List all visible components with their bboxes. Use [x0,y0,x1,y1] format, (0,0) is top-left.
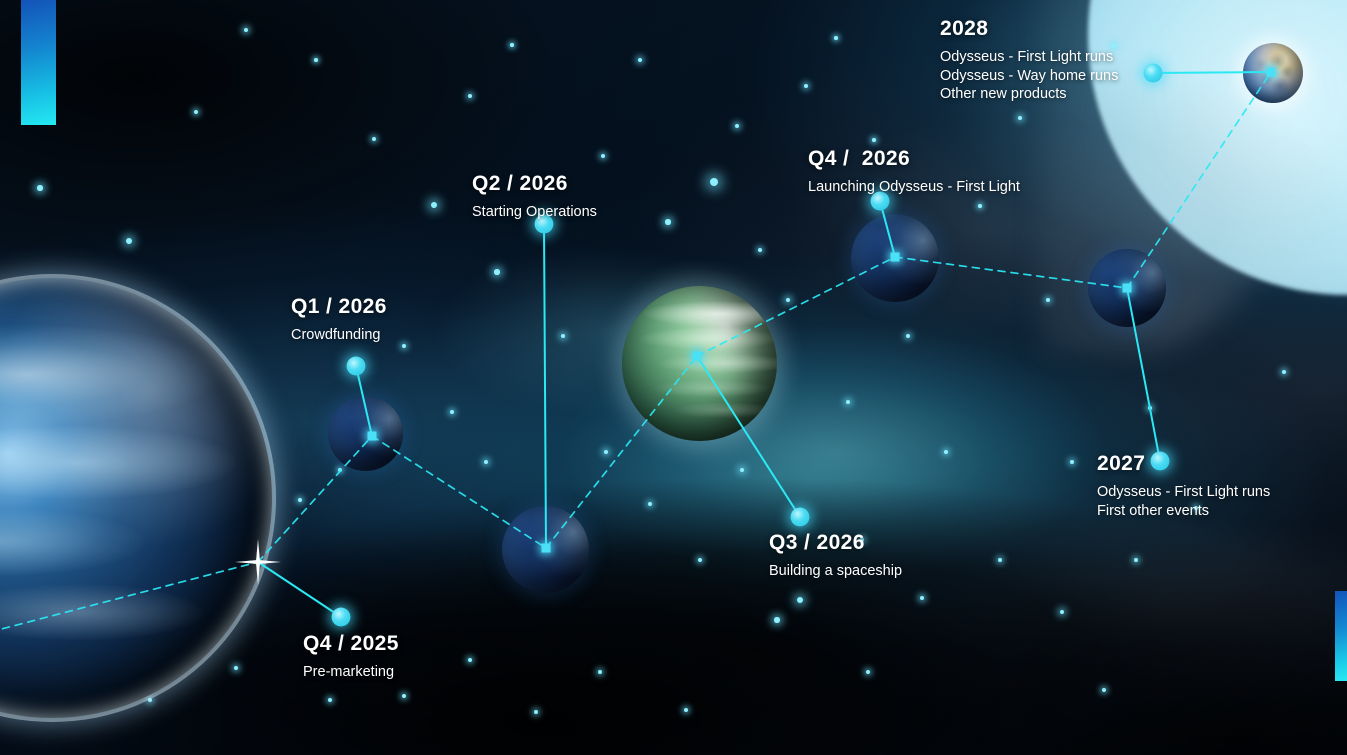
milestone-title: Q2 / 2026 [472,172,597,196]
link-moon-to-y2028 [1153,72,1271,73]
milestone-label-q1-2026[interactable]: Q1 / 2026Crowdfunding [291,295,387,345]
link-green-to-q3-2026 [697,356,800,517]
link-green-to-navy3 [697,257,895,356]
link-offscreen-to-star [0,562,258,632]
milestone-label-y2028[interactable]: 2028Odysseus - First Light runsOdysseus … [940,17,1118,104]
link-navy2-to-q2-2026 [544,224,546,548]
milestone-description: Launching Odysseus - First Light [808,178,1020,197]
milestone-description: Crowdfunding [291,326,387,345]
milestone-label-q2-2026[interactable]: Q2 / 2026Starting Operations [472,172,597,222]
milestone-description-line: Odysseus - First Light runs [1097,483,1270,502]
milestone-description-line: Building a spaceship [769,562,902,581]
milestone-label-q3-2026[interactable]: Q3 / 2026Building a spaceship [769,531,902,581]
milestone-dot-q4-2025[interactable] [332,608,351,627]
link-star-to-q4-2025 [258,562,341,617]
hub-navy-1 [368,432,377,441]
milestone-title: Q1 / 2026 [291,295,387,319]
milestone-title: 2027 [1097,452,1270,476]
milestone-description: Pre-marketing [303,663,399,682]
milestone-title: Q4 / 2025 [303,632,399,656]
hub-navy-3 [891,253,900,262]
milestone-description-line: Launching Odysseus - First Light [808,178,1020,197]
milestone-description-line: First other events [1097,502,1270,521]
milestone-description-line: Crowdfunding [291,326,387,345]
milestone-dot-q3-2026[interactable] [791,508,810,527]
milestone-description-line: Odysseus - First Light runs [940,48,1118,67]
link-navy2-to-green [546,356,697,548]
accent-bar-bottom-right [1335,591,1347,681]
link-navy1-to-q1-2026 [356,366,372,436]
hub-navy-4 [1123,284,1132,293]
link-navy1-to-navy2 [372,436,546,548]
hub-navy-2 [542,544,551,553]
hub-moon [1267,68,1276,77]
link-navy4-to-moon [1127,72,1271,288]
milestone-label-q4-2026[interactable]: Q4 / 2026Launching Odysseus - First Ligh… [808,147,1020,197]
milestone-label-q4-2025[interactable]: Q4 / 2025Pre-marketing [303,632,399,682]
milestone-title: Q4 / 2026 [808,147,1020,171]
milestone-dot-y2028[interactable] [1144,64,1163,83]
milestone-description: Odysseus - First Light runsOdysseus - Wa… [940,48,1118,104]
milestone-description-line: Pre-marketing [303,663,399,682]
accent-bar-top-left [21,0,56,125]
milestone-description-line: Other new products [940,85,1118,104]
connector-lines [0,0,1347,755]
milestone-title: 2028 [940,17,1118,41]
roadmap-canvas: Q4 / 2025Pre-marketingQ1 / 2026Crowdfund… [0,0,1347,755]
milestone-description-line: Starting Operations [472,203,597,222]
milestone-title: Q3 / 2026 [769,531,902,555]
milestone-description: Odysseus - First Light runsFirst other e… [1097,483,1270,520]
milestone-dot-q1-2026[interactable] [347,357,366,376]
milestone-description-line: Odysseus - Way home runs [940,67,1118,86]
link-star-to-navy1 [258,436,372,562]
link-navy3-to-navy4 [895,257,1127,288]
link-navy4-to-y2027 [1127,288,1160,461]
milestone-label-y2027[interactable]: 2027Odysseus - First Light runsFirst oth… [1097,452,1270,520]
milestone-description: Building a spaceship [769,562,902,581]
milestone-description: Starting Operations [472,203,597,222]
hub-green [693,352,702,361]
